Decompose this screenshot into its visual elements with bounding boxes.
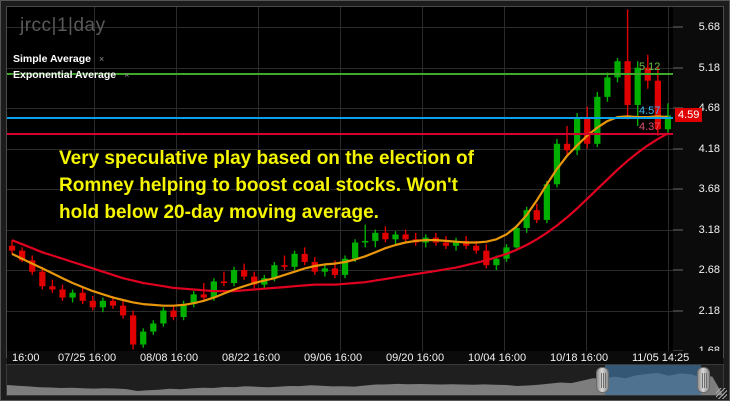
red-level-value: 4.37 bbox=[639, 121, 660, 133]
chart-annotation: Very speculative play based on the elect… bbox=[59, 146, 479, 227]
red-level-line[interactable] bbox=[7, 133, 673, 135]
resize-corner-icon[interactable] bbox=[716, 388, 727, 399]
time-tick-label: 10/18 16:00 bbox=[550, 352, 608, 364]
price-tick-label: 4.18 bbox=[699, 143, 720, 155]
time-tick-label: 08/22 16:00 bbox=[222, 352, 280, 364]
legend-item-label: Exponential Average bbox=[13, 69, 116, 81]
time-tick-label: 07/25 16:00 bbox=[58, 352, 116, 364]
close-icon[interactable]: × bbox=[124, 70, 129, 80]
time-tick-label: 08/08 16:00 bbox=[140, 352, 198, 364]
legend-item-exponential-average[interactable]: Exponential Average × bbox=[13, 68, 129, 82]
time-tick-label: 10/04 16:00 bbox=[468, 352, 526, 364]
range-scrollbar[interactable] bbox=[6, 364, 724, 396]
range-selection[interactable] bbox=[605, 365, 701, 395]
price-tick-label: 3.18 bbox=[699, 224, 720, 236]
price-tick-label: 2.18 bbox=[699, 305, 720, 317]
page-title: jrcc|1|day bbox=[20, 15, 106, 37]
time-tick-label: 16:00 bbox=[12, 352, 40, 364]
close-icon[interactable]: × bbox=[99, 54, 104, 64]
legend-item-simple-average[interactable]: Simple Average × bbox=[13, 52, 129, 66]
price-tick-label: 2.68 bbox=[699, 264, 720, 276]
chart-window: jrcc|1|day Simple Average × Exponential … bbox=[0, 0, 730, 401]
range-left-handle[interactable] bbox=[596, 367, 609, 393]
chart-panel[interactable]: jrcc|1|day Simple Average × Exponential … bbox=[6, 6, 724, 358]
price-plot[interactable]: jrcc|1|day Simple Average × Exponential … bbox=[7, 7, 673, 351]
blue-level-value: 4.57 bbox=[639, 105, 660, 117]
blue-level-line[interactable] bbox=[7, 117, 673, 119]
price-axis[interactable]: 5.685.184.684.183.683.182.682.181.68 5.1… bbox=[673, 7, 723, 351]
legend: Simple Average × Exponential Average × bbox=[13, 52, 129, 84]
legend-item-label: Simple Average bbox=[13, 53, 91, 65]
price-tick-label: 5.68 bbox=[699, 21, 720, 33]
range-right-handle[interactable] bbox=[697, 367, 710, 393]
status-badge: 4.59 bbox=[675, 108, 702, 122]
green-level-value: 5.12 bbox=[639, 61, 660, 73]
price-tick-label: 3.68 bbox=[699, 183, 720, 195]
price-tick-label: 5.18 bbox=[699, 62, 720, 74]
time-tick-label: 11/05 14:25 bbox=[632, 352, 689, 364]
time-tick-label: 09/20 16:00 bbox=[386, 352, 444, 364]
time-tick-label: 09/06 16:00 bbox=[304, 352, 362, 364]
